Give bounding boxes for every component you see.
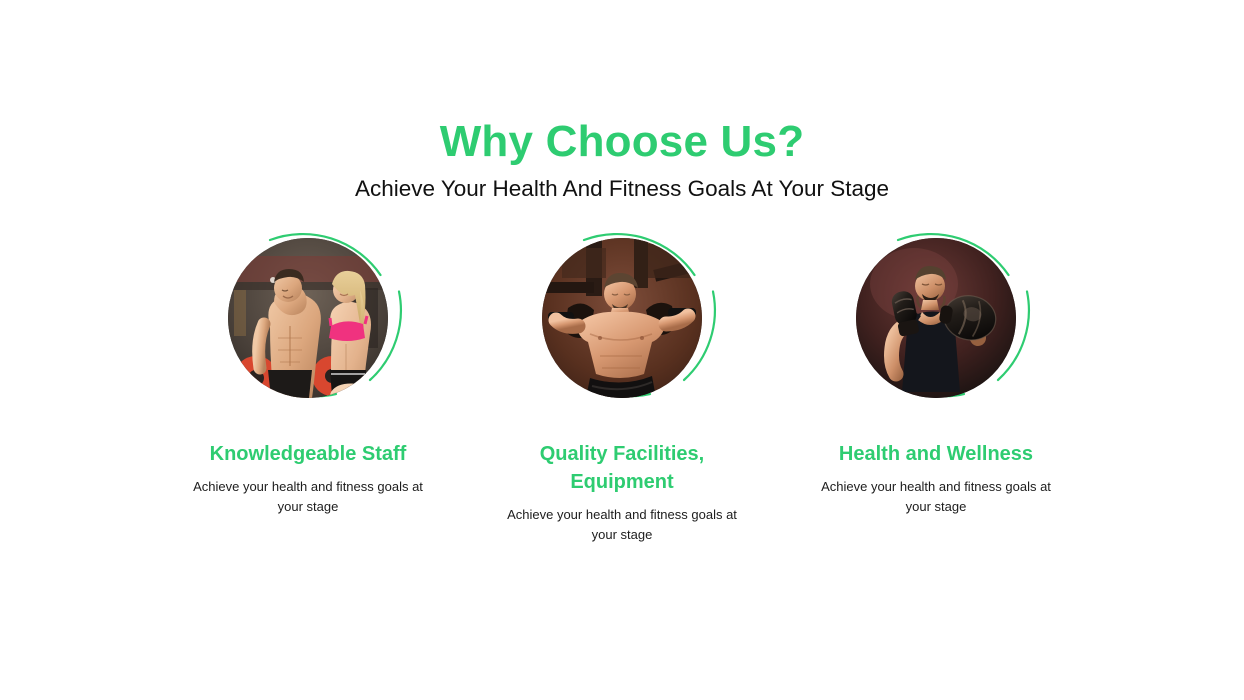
page-subtitle: Achieve Your Health And Fitness Goals At… (0, 174, 1244, 203)
card-title: Knowledgeable Staff (210, 440, 407, 468)
feature-card[interactable]: Quality Facilities, Equipment Achieve yo… (465, 218, 779, 545)
card-photo (856, 238, 1016, 398)
section-heading-block: Why Choose Us? Achieve Your Health And F… (0, 118, 1244, 203)
feature-cards-row: Knowledgeable Staff Achieve your health … (0, 218, 1244, 545)
card-photo (228, 238, 388, 398)
card-media (522, 218, 722, 418)
card-media (836, 218, 1036, 418)
card-title: Quality Facilities, Equipment (507, 440, 737, 496)
why-choose-us-section: Why Choose Us? Achieve Your Health And F… (0, 0, 1244, 700)
card-description: Achieve your health and fitness goals at… (496, 505, 748, 545)
feature-card[interactable]: Health and Wellness Achieve your health … (779, 218, 1093, 517)
card-photo (542, 238, 702, 398)
feature-card[interactable]: Knowledgeable Staff Achieve your health … (151, 218, 465, 517)
card-description: Achieve your health and fitness goals at… (810, 477, 1062, 517)
card-media (208, 218, 408, 418)
card-description: Achieve your health and fitness goals at… (182, 477, 434, 517)
card-title: Health and Wellness (839, 440, 1033, 468)
page-title: Why Choose Us? (0, 118, 1244, 166)
